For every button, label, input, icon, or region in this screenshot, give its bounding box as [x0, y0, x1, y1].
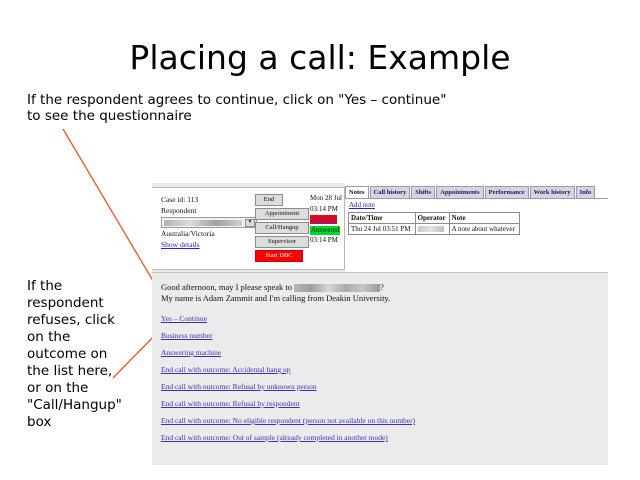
script-line-1-prefix: Good afternoon, may I please speak to	[161, 282, 294, 292]
notes-tab-panel: Notes Call history Shifts Appointments P…	[345, 183, 608, 272]
tab-work-history[interactable]: Work history	[530, 186, 575, 198]
slide-canvas: Placing a call: Example If the responden…	[0, 0, 640, 480]
script-and-outcomes-area: Good afternoon, may I please speak to ? …	[152, 279, 608, 465]
respondent-selected-value	[164, 220, 242, 226]
cell-operator	[415, 224, 449, 235]
column-header-datetime: Date/Time	[349, 213, 416, 224]
case-info-column: Case id: 113 Respondent ▼ Australia/Vict…	[161, 194, 259, 250]
call-action-buttons: End Appointment Call/Hangup Supervisor S…	[255, 194, 309, 264]
tab-appointments[interactable]: Appointments	[436, 186, 483, 198]
outcome-link-out-of-sample[interactable]: End call with outcome: Out of sample (al…	[161, 433, 388, 443]
tab-info[interactable]: Info	[576, 186, 596, 198]
annotation-top-text: If the respondent agrees to continue, cl…	[27, 92, 457, 124]
script-line-1: Good afternoon, may I please speak to ?	[161, 282, 384, 293]
embedded-app-screenshot: Case id: 113 Respondent ▼ Australia/Vict…	[152, 183, 608, 465]
call-control-panel: Case id: 113 Respondent ▼ Australia/Vict…	[152, 187, 345, 270]
column-header-operator: Operator	[415, 213, 449, 224]
table-row: Thu 24 Jul 03:51 PM A note about whateve…	[349, 224, 520, 235]
call-hangup-button[interactable]: Call/Hangup	[255, 222, 309, 234]
outcome-link-answering-machine[interactable]: Answering machine	[161, 348, 221, 358]
respondent-label: Respondent	[161, 205, 259, 216]
show-details-link[interactable]: Show details	[161, 239, 259, 250]
arrow-to-yes-continue	[63, 129, 162, 296]
script-line-1-suffix: ?	[380, 282, 384, 292]
start-dbc-button[interactable]: Start DBC	[255, 250, 303, 262]
table-header-row: Date/Time Operator Note	[349, 213, 520, 224]
add-note-link[interactable]: Add note	[349, 201, 375, 209]
respondent-select[interactable]: ▼	[161, 217, 257, 228]
outcome-link-no-eligible-respondent[interactable]: End call with outcome: No eligible respo…	[161, 416, 415, 426]
case-id-label: Case id: 113	[161, 194, 259, 205]
panel-tabstrip: Notes Call history Shifts Appointments P…	[345, 186, 608, 199]
app-top-strip: Case id: 113 Respondent ▼ Australia/Vict…	[152, 183, 608, 272]
supervisor-button[interactable]: Supervisor	[255, 236, 309, 248]
end-button[interactable]: End	[255, 194, 283, 206]
voip-status-badge[interactable]: VoIP Off	[310, 215, 337, 224]
chevron-down-icon[interactable]: ▼	[245, 219, 255, 227]
cell-note: A note about whatever	[449, 224, 519, 235]
script-line-2: My name is Adam Zammit and I'm calling f…	[161, 293, 390, 304]
tab-notes[interactable]: Notes	[345, 186, 369, 198]
appointment-button[interactable]: Appointment	[255, 208, 309, 220]
notes-table: Date/Time Operator Note Thu 24 Jul 03:51…	[348, 212, 520, 235]
page-title: Placing a call: Example	[0, 38, 640, 77]
panel-divider	[152, 272, 608, 273]
cell-datetime: Thu 24 Jul 03:51 PM	[349, 224, 416, 235]
tab-call-history[interactable]: Call history	[370, 186, 411, 198]
outcome-link-business-number[interactable]: Business number	[161, 331, 212, 341]
timezone-label: Australia/Victoria	[161, 228, 259, 239]
tab-shifts[interactable]: Shifts	[411, 186, 435, 198]
outcome-link-refusal-unknown[interactable]: End call with outcome: Refusal by unknow…	[161, 382, 317, 392]
annotation-left-text: If the respondent refuses, click on the …	[27, 278, 127, 431]
answered-status-badge: Answered	[310, 226, 340, 235]
outcome-link-yes-continue[interactable]: Yes – Continue	[161, 314, 207, 324]
tab-performance[interactable]: Performance	[485, 186, 529, 198]
outcome-link-accidental-hang-up[interactable]: End call with outcome: Accidental hang u…	[161, 365, 291, 375]
column-header-note: Note	[449, 213, 519, 224]
respondent-name-redacted	[294, 284, 380, 292]
outcome-link-refusal-respondent[interactable]: End call with outcome: Refusal by respon…	[161, 399, 300, 409]
operator-redacted	[418, 226, 444, 232]
